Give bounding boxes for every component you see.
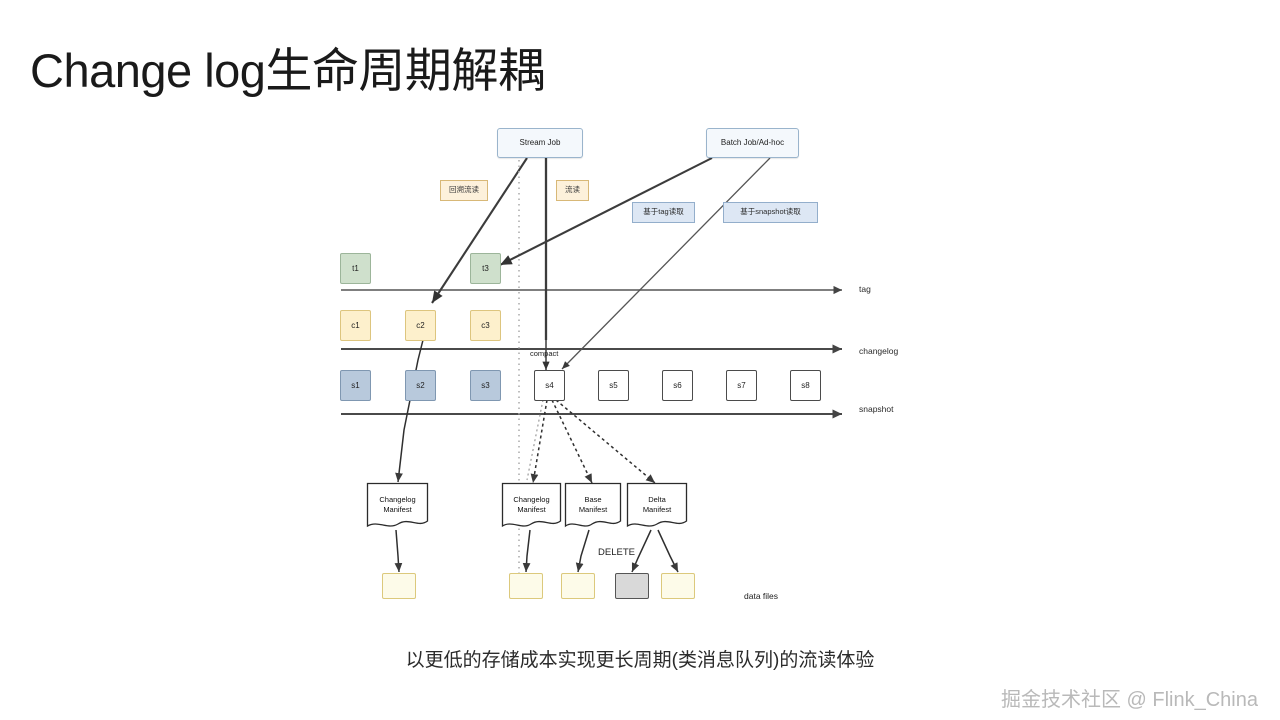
batch-job-box[interactable]: Batch Job/Ad-hoc: [706, 128, 799, 158]
changelog-cell-c3-label: c3: [481, 321, 489, 330]
changelog-manifest-label: Changelog Manifest: [513, 495, 549, 517]
base-manifest-box[interactable]: Base Manifest: [564, 482, 622, 530]
snapshot-cell-s4[interactable]: s4: [534, 370, 565, 401]
snapshot-cell-s5[interactable]: s5: [598, 370, 629, 401]
stream-read-text: 流读: [565, 186, 580, 195]
changelog-cell-c3[interactable]: c3: [470, 310, 501, 341]
snapshot-cell-s6[interactable]: s6: [662, 370, 693, 401]
data-file-4-deleted[interactable]: [615, 573, 649, 599]
changelog-manifest-box[interactable]: Changelog Manifest: [501, 482, 562, 530]
arrow-batch-job-to-s4: [562, 158, 770, 369]
arrow-s4-to-delta-manifest: [556, 400, 655, 483]
delta-manifest-label: Delta Manifest: [643, 495, 671, 517]
snapshot-cell-s3-label: s3: [481, 381, 489, 390]
label-read-by-tag: 基于tag读取: [632, 202, 695, 223]
snapshot-cell-s8-label: s8: [801, 381, 809, 390]
changelog-cell-c1[interactable]: c1: [340, 310, 371, 341]
snapshot-cell-s7-label: s7: [737, 381, 745, 390]
changelog-cell-c2-label: c2: [416, 321, 424, 330]
arrow-delta-manifest-to-data-file-5: [658, 530, 678, 572]
base-manifest-label: Base Manifest: [579, 495, 607, 517]
tag-cell-t3-label: t3: [482, 264, 489, 273]
snapshot-cell-s6-label: s6: [673, 381, 681, 390]
watermark: 掘金技术社区 @ Flink_China: [1001, 683, 1258, 712]
delta-manifest-box[interactable]: Delta Manifest: [626, 482, 688, 530]
axis-label-tag: tag: [859, 284, 871, 294]
diagram-connectors: [0, 0, 1280, 720]
arrow-s4-secondary-dashed: [527, 400, 543, 480]
changelog-manifest-archived-box[interactable]: Changelog Manifest: [366, 482, 429, 530]
data-files-annotation: data files: [744, 591, 778, 601]
data-file-5[interactable]: [661, 573, 695, 599]
slide-caption: 以更低的存储成本实现更长周期(类消息队列)的流读体验: [0, 645, 1280, 672]
label-stream-read: 流读: [556, 180, 589, 201]
snapshot-cell-s2[interactable]: s2: [405, 370, 436, 401]
arrow-changelog-manifest-to-data-file-2: [526, 530, 530, 572]
tag-cell-t3[interactable]: t3: [470, 253, 501, 284]
read-by-snapshot-text: 基于snapshot读取: [740, 208, 800, 217]
batch-job-label: Batch Job/Ad-hoc: [721, 138, 784, 147]
changelog-manifest-archived-label: Changelog Manifest: [379, 495, 415, 517]
arrow-changelog-manifest-archived-to-data-file-1: [396, 530, 399, 572]
changelog-cell-c2[interactable]: c2: [405, 310, 436, 341]
tag-cell-t1-label: t1: [352, 264, 359, 273]
axis-label-changelog: changelog: [859, 346, 898, 356]
arrow-c2-to-changelog-manifest-archived: [398, 340, 423, 482]
changelog-cell-c1-label: c1: [351, 321, 359, 330]
snapshot-cell-s5-label: s5: [609, 381, 617, 390]
slide-canvas: Change log生命周期解耦: [0, 0, 1280, 720]
data-file-2[interactable]: [509, 573, 543, 599]
backfill-stream-read-text: 回溯流读: [449, 186, 479, 195]
snapshot-cell-s1[interactable]: s1: [340, 370, 371, 401]
label-read-by-snapshot: 基于snapshot读取: [723, 202, 818, 223]
tag-cell-t1[interactable]: t1: [340, 253, 371, 284]
delete-annotation: DELETE: [598, 547, 635, 558]
snapshot-cell-s4-label: s4: [545, 381, 553, 390]
arrow-s4-to-changelog-manifest: [533, 400, 547, 483]
compact-annotation: compact: [530, 349, 558, 358]
snapshot-cell-s3[interactable]: s3: [470, 370, 501, 401]
data-file-3[interactable]: [561, 573, 595, 599]
snapshot-cell-s7[interactable]: s7: [726, 370, 757, 401]
arrow-base-manifest-to-data-file-3: [578, 530, 589, 572]
snapshot-cell-s1-label: s1: [351, 381, 359, 390]
axis-label-snapshot: snapshot: [859, 404, 894, 414]
stream-job-label: Stream Job: [520, 138, 561, 147]
snapshot-cell-s2-label: s2: [416, 381, 424, 390]
snapshot-cell-s8[interactable]: s8: [790, 370, 821, 401]
data-file-1[interactable]: [382, 573, 416, 599]
read-by-tag-text: 基于tag读取: [643, 208, 683, 217]
label-backfill-stream-read: 回溯流读: [440, 180, 488, 201]
stream-job-box[interactable]: Stream Job: [497, 128, 583, 158]
